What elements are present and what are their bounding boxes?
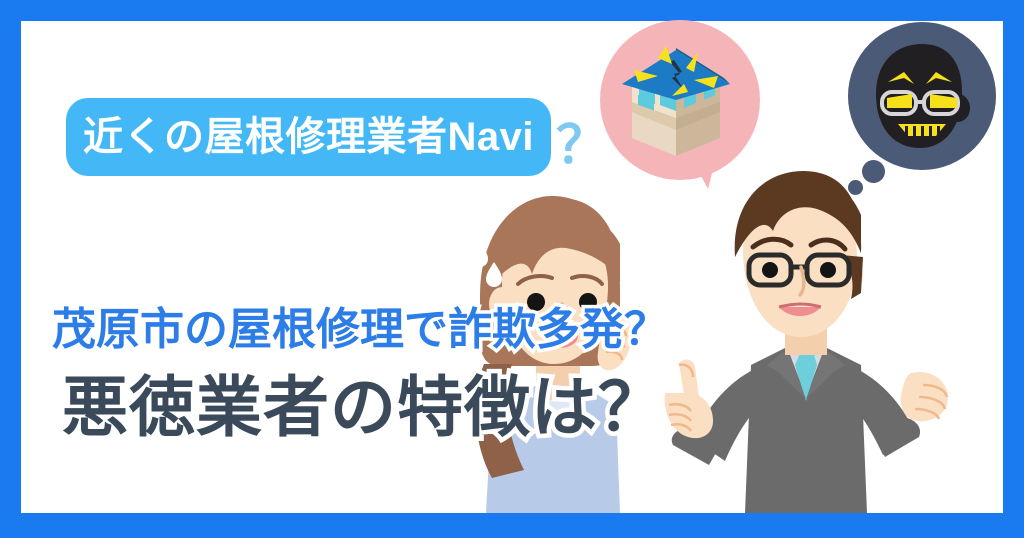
headline-title: 悪徳業者の特徴は？ <box>62 374 665 440</box>
pointing-businessman-icon <box>655 165 955 513</box>
site-badge-label: 近くの屋根修理業者Navi <box>83 117 534 157</box>
villain-face-icon <box>858 36 986 160</box>
headline-subtitle: 茂原市の屋根修理で詐欺多発？ <box>52 308 668 352</box>
decorative-question-mark: ？ <box>556 120 608 172</box>
damaged-house-icon <box>614 38 748 162</box>
site-badge[interactable]: 近くの屋根修理業者Navi <box>66 98 551 176</box>
banner-canvas: 近くの屋根修理業者Navi ？ 茂原市の屋根修理で詐欺多発？ 悪徳業者の特徴は？ <box>0 0 1024 538</box>
